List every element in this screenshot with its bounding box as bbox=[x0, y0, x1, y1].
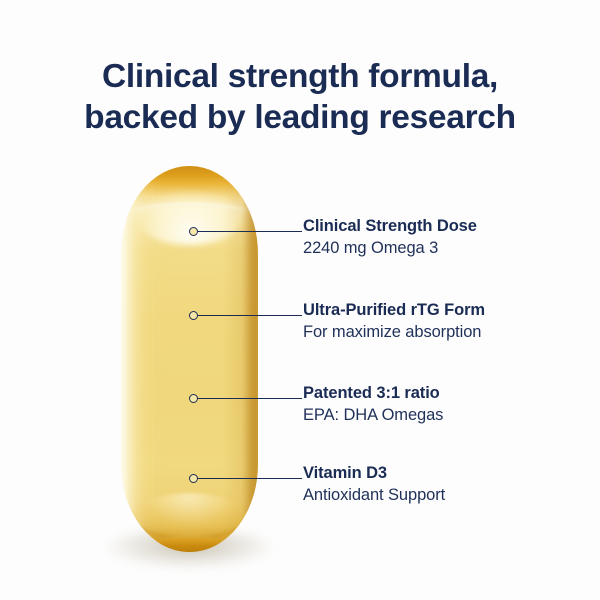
callout-leader-line bbox=[198, 398, 302, 400]
callout-text: Ultra-Purified rTG Form For maximize abs… bbox=[303, 299, 485, 344]
page-title: Clinical strength formula, backed by lea… bbox=[0, 56, 600, 138]
callout-marker-icon bbox=[189, 474, 198, 483]
callout-leader-line bbox=[198, 231, 302, 233]
headline-line-1: Clinical strength formula, bbox=[0, 56, 600, 97]
callout-subtitle: Antioxidant Support bbox=[303, 484, 445, 507]
callout-subtitle: EPA: DHA Omegas bbox=[303, 404, 443, 427]
callout-subtitle: 2240 mg Omega 3 bbox=[303, 237, 477, 260]
callout-leader-line bbox=[198, 478, 302, 480]
capsule-top-meniscus bbox=[133, 203, 245, 222]
callout-subtitle: For maximize absorption bbox=[303, 321, 485, 344]
capsule-bottom-meniscus bbox=[132, 493, 247, 539]
softgel-capsule-image bbox=[121, 166, 258, 552]
callout-title: Vitamin D3 bbox=[303, 462, 445, 484]
callout-text: Patented 3:1 ratio EPA: DHA Omegas bbox=[303, 382, 443, 427]
callout-title: Patented 3:1 ratio bbox=[303, 382, 443, 404]
callout-leader-line bbox=[198, 315, 302, 317]
callout-marker-icon bbox=[189, 311, 198, 320]
infographic-canvas: Clinical strength formula, backed by lea… bbox=[0, 0, 600, 600]
callout-marker-icon bbox=[189, 227, 198, 236]
callout-title: Ultra-Purified rTG Form bbox=[303, 299, 485, 321]
capsule-base bbox=[154, 537, 225, 552]
callout-title: Clinical Strength Dose bbox=[303, 215, 477, 237]
capsule-body bbox=[121, 166, 258, 552]
callout-marker-icon bbox=[189, 394, 198, 403]
headline-line-2: backed by leading research bbox=[0, 97, 600, 138]
callout-text: Vitamin D3 Antioxidant Support bbox=[303, 462, 445, 507]
callout-text: Clinical Strength Dose 2240 mg Omega 3 bbox=[303, 215, 477, 260]
